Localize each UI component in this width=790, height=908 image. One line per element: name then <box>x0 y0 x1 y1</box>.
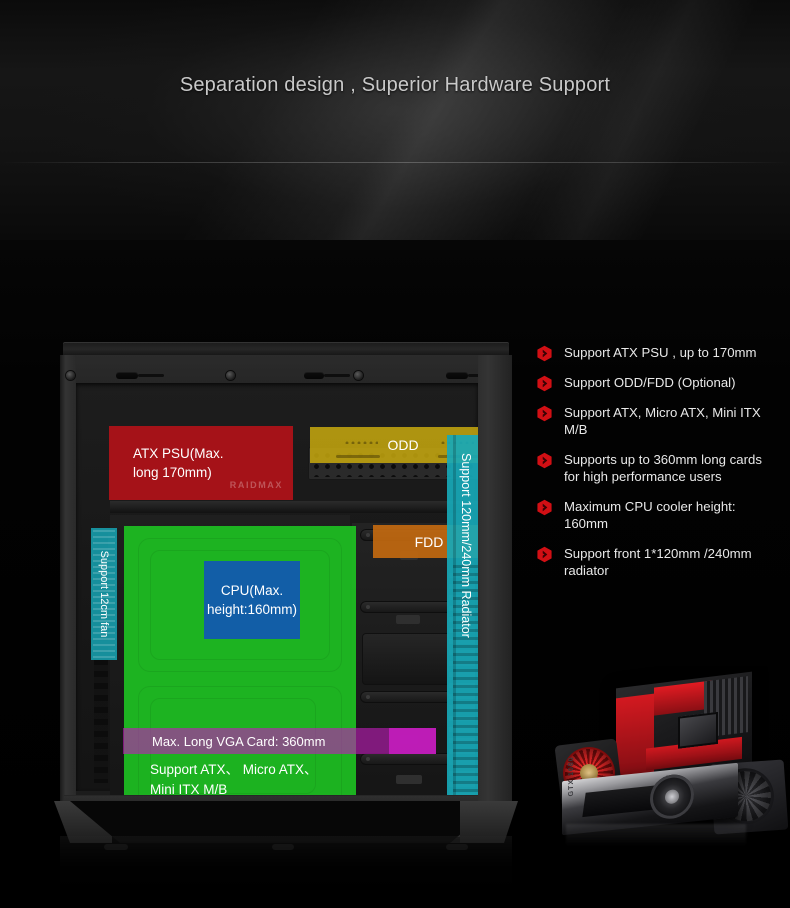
overlay-front-fan-strip: Support 12cm fan <box>91 528 117 660</box>
hardware-product-photo: GTX 1080 <box>544 666 788 846</box>
bullet-hexagon-chevron-icon <box>536 405 553 422</box>
bullet-hexagon-chevron-icon <box>536 546 553 563</box>
feature-item: Support ODD/FDD (Optional) <box>536 374 780 391</box>
case-interior: ATX PSU(Max. long 170mm) RAIDMAX ODD FDD <box>76 383 478 791</box>
radiator-strip-seam <box>453 435 456 820</box>
feature-label: Support ATX, Micro ATX, Mini ITX M/B <box>564 405 761 437</box>
gpu-model-label: GTX 1080 <box>568 756 575 797</box>
page-title: Separation design , Superior Hardware Su… <box>0 74 790 97</box>
vga-bar-solid-segment <box>389 728 436 754</box>
case-floor-reflection <box>60 836 512 906</box>
overlay-atx-psu-line1: ATX PSU(Max. <box>133 444 293 463</box>
banner-light-streak <box>142 0 688 240</box>
product-reflection <box>566 824 746 846</box>
page-root: Separation design , Superior Hardware Su… <box>0 0 790 908</box>
overlay-cpu-line2: height:160mm) <box>207 600 297 619</box>
case-chassis: ATX PSU(Max. long 170mm) RAIDMAX ODD FDD <box>60 355 512 803</box>
overlay-vga-label: Max. Long VGA Card: 360mm <box>152 734 325 749</box>
feature-label: Maximum CPU cooler height: 160mm <box>564 499 736 531</box>
feature-item: Support ATX PSU , up to 170mm <box>536 344 780 361</box>
case-diagram: ATX PSU(Max. long 170mm) RAIDMAX ODD FDD <box>60 342 512 842</box>
hero-banner: Separation design , Superior Hardware Su… <box>0 0 790 240</box>
overlay-motherboard-line1: Support ATX、 Micro ATX、 <box>150 760 318 780</box>
feature-item: Maximum CPU cooler height: 160mm <box>536 498 780 532</box>
overlay-fdd-label: FDD <box>415 534 444 550</box>
feature-label: Supports up to 360mm long cards for high… <box>564 452 762 484</box>
bullet-hexagon-chevron-icon <box>536 345 553 362</box>
overlay-vga-card-bar: Max. Long VGA Card: 360mm <box>123 728 436 754</box>
overlay-motherboard: CPU(Max. height:160mm) Support ATX、 Micr… <box>124 526 356 814</box>
bullet-hexagon-chevron-icon <box>536 452 553 469</box>
bullet-hexagon-chevron-icon <box>536 375 553 392</box>
overlay-cpu: CPU(Max. height:160mm) <box>204 561 300 639</box>
psu-brand-watermark: RAIDMAX <box>230 476 283 495</box>
bullet-hexagon-chevron-icon <box>536 499 553 516</box>
overlay-fan-label: Support 12cm fan <box>91 528 117 660</box>
case-psu-shelf <box>110 501 494 513</box>
odd-bar-left <box>336 455 380 458</box>
overlay-odd-label: ODD <box>387 437 418 453</box>
banner-light-streak-secondary <box>506 0 790 240</box>
overlay-motherboard-label: Support ATX、 Micro ATX、 Mini ITX M/B <box>150 760 318 800</box>
feature-item: Support ATX, Micro ATX, Mini ITX M/B <box>536 404 780 438</box>
feature-item: Supports up to 360mm long cards for high… <box>536 451 780 485</box>
overlay-atx-psu: ATX PSU(Max. long 170mm) RAIDMAX <box>109 426 293 500</box>
banner-horizon-line <box>0 162 790 163</box>
feature-label: Support ODD/FDD (Optional) <box>564 375 736 390</box>
overlay-cpu-line1: CPU(Max. <box>207 581 297 600</box>
feature-label: Support front 1*120mm /240mm radiator <box>564 546 752 578</box>
feature-item: Support front 1*120mm /240mm radiator <box>536 545 780 579</box>
feature-list: Support ATX PSU , up to 170mm Support OD… <box>536 344 780 592</box>
odd-dots-left <box>344 440 378 444</box>
feature-label: Support ATX PSU , up to 170mm <box>564 345 757 360</box>
